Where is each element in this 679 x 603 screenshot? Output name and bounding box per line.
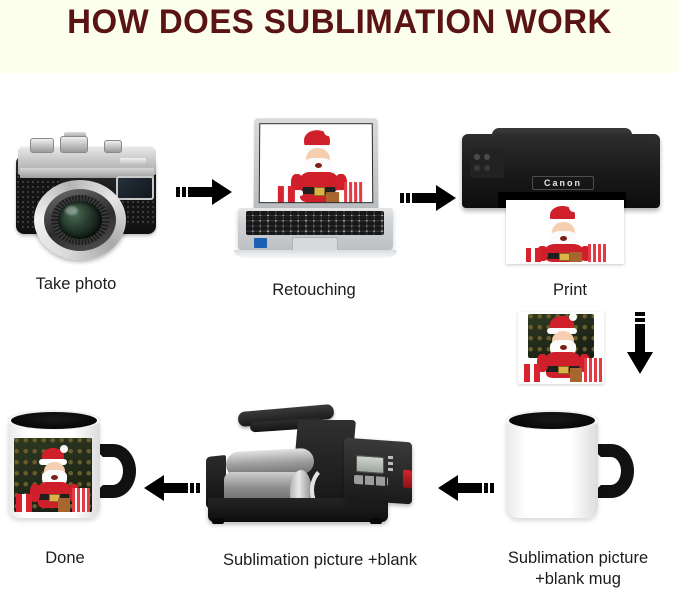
arrow-camera-to-laptop-icon [176, 176, 234, 208]
arrow-mug-to-press-icon [436, 472, 494, 504]
mug-heat-press-illustration [198, 398, 423, 546]
caption-done: Done [0, 548, 130, 569]
printed-sheet [506, 200, 624, 264]
caption-retouching: Retouching [234, 280, 394, 301]
santa-artwork-screen [260, 124, 372, 202]
blank-mug-illustration [506, 404, 641, 526]
caption-print: Print [500, 280, 640, 301]
caption-sublimation-picture-blank-mug: Sublimation picture +blank mug [478, 548, 678, 590]
press-lcd-display [356, 455, 384, 474]
santa-artwork-print [506, 200, 624, 264]
caption-sublimation-picture-blank: Sublimation picture +blank [178, 550, 462, 571]
arrow-printer-to-sheet-icon [624, 312, 656, 378]
laptop-screen [259, 123, 374, 203]
caption-take-photo: Take photo [0, 274, 152, 295]
laptop-illustration [232, 118, 397, 266]
printer-brand-label: Canon [532, 176, 594, 190]
mug-printed-artwork [14, 438, 92, 512]
page-title: HOW DOES SUBLIMATION WORK [10, 0, 669, 46]
infographic-canvas: HOW DOES SUBLIMATION WORK Take photo [0, 0, 679, 603]
printer-illustration: Canon [462, 132, 667, 272]
finished-mug-illustration [8, 404, 143, 526]
sublimation-transfer-sheet [518, 312, 604, 384]
santa-artwork-sheet [518, 312, 604, 384]
press-power-switch [403, 470, 412, 489]
camera-illustration [8, 118, 168, 263]
arrow-laptop-to-printer-icon [400, 182, 458, 214]
arrow-press-to-done-icon [142, 472, 200, 504]
